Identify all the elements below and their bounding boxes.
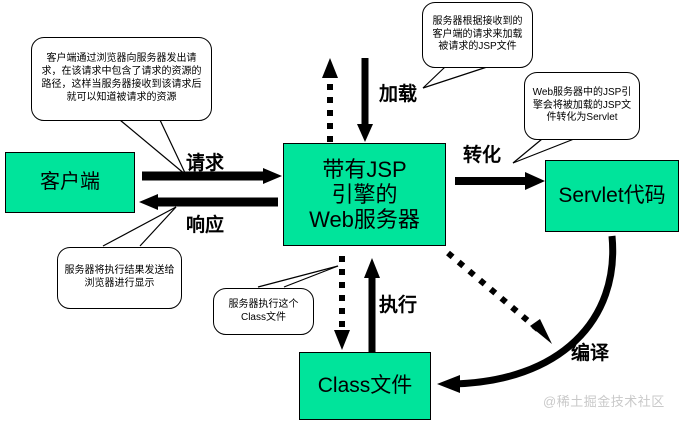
- edge-label-compile: 编译: [571, 338, 609, 365]
- arrow-load: [357, 58, 373, 142]
- edge-label-request: 请求: [186, 148, 224, 175]
- arrow-response: [139, 194, 278, 210]
- arrow-compile: [437, 236, 613, 393]
- arrow-compiled-dashed: [448, 253, 552, 344]
- edge-label-execute: 执行: [379, 290, 417, 317]
- edge-label-load: 加载: [379, 79, 417, 106]
- callout-convert: Web服务器中的JSP引擎会将被加载的JSP文件转化为Servlet: [524, 72, 640, 140]
- callout-response: 服务器将执行结果发送给浏览器进行显示: [57, 247, 182, 309]
- node-web-server[interactable]: 带有JSP 引擎的 Web服务器: [283, 143, 446, 246]
- arrow-convert: [455, 172, 545, 190]
- arrow-load-return-dashed: [322, 58, 338, 142]
- callout-load: 服务器根据接收到的客户端的请求来加载被请求的JSP文件: [422, 2, 533, 68]
- node-client[interactable]: 客户端: [5, 152, 135, 213]
- callout-request: 客户端通过浏览器向服务器发出请求，在该请求中包含了请求的资源的路径，这样当服务器…: [31, 37, 212, 121]
- node-class-file[interactable]: Class文件: [299, 352, 431, 420]
- watermark: @稀土掘金技术社区: [543, 391, 665, 410]
- arrow-execute: [364, 258, 380, 352]
- edge-label-convert: 转化: [463, 140, 501, 167]
- node-servlet-code[interactable]: Servlet代码: [545, 160, 679, 232]
- diagram-canvas: 客户端 带有JSP 引擎的 Web服务器 Servlet代码 Class文件 请…: [0, 0, 685, 424]
- callout-execute: 服务器执行这个Class文件: [213, 288, 314, 335]
- arrow-execute-down-dashed: [334, 256, 350, 350]
- edge-label-response: 响应: [186, 210, 224, 237]
